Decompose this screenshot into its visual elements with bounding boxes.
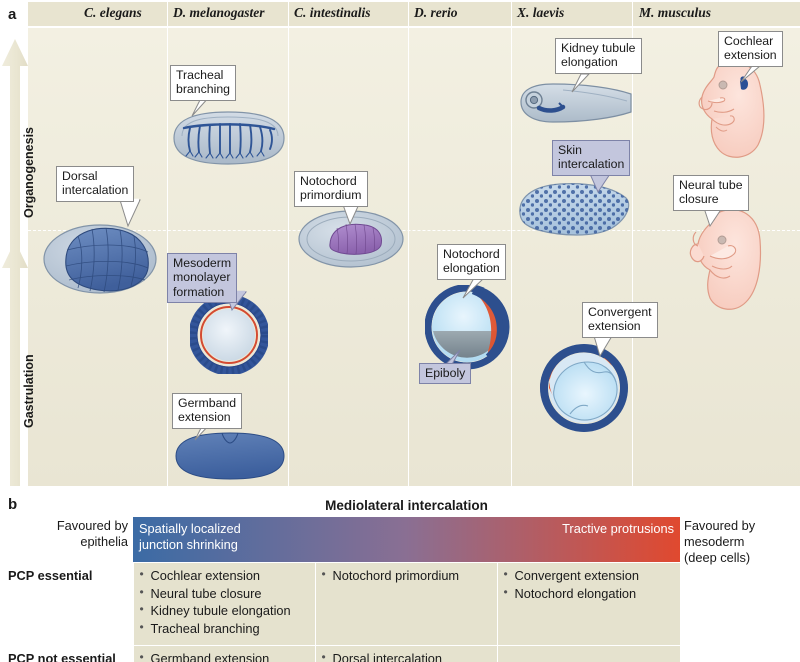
callout-line: Germband — [178, 396, 236, 410]
table-row: PCP essential Cochlear extension Neural … — [0, 563, 680, 645]
list-item: Notochord elongation — [504, 586, 675, 603]
callout-line: extension — [724, 48, 777, 62]
list-item: Convergent extension — [504, 568, 675, 585]
list-item: Tracheal branching — [140, 621, 309, 638]
callout-line: Neural tube — [679, 178, 743, 192]
callout-tail-cochlear-extension — [738, 64, 764, 84]
fav-meso-line-2: mesoderm — [684, 534, 744, 549]
callout-notochord-elongation[interactable]: Notochord elongation — [437, 244, 506, 280]
list-item: Dorsal intercalation — [322, 651, 491, 662]
cell-pcp-essential-mixed: Notochord primordium — [315, 563, 497, 645]
callout-line: elongation — [443, 261, 500, 275]
column-separator-4 — [511, 28, 512, 486]
cell-pcp-not-essential-mixed: Dorsal intercalation — [315, 645, 497, 662]
list: Notochord primordium — [322, 568, 491, 585]
callout-line: Dorsal — [62, 169, 98, 183]
callout-line: extension — [588, 319, 641, 333]
gradient-right-line-1: Tractive protrusions — [562, 521, 674, 536]
panel-b: b Mediolateral intercalation Favoured by… — [0, 492, 800, 662]
callout-line: branching — [176, 82, 230, 96]
species-label-x-laevis: X. laevis — [517, 5, 564, 21]
list: Germband extension — [140, 651, 309, 662]
species-label-d-melanogaster: D. melanogaster — [173, 5, 265, 21]
callout-skin-intercalation[interactable]: Skin intercalation — [552, 140, 630, 176]
pcp-table: PCP essential Cochlear extension Neural … — [0, 563, 680, 662]
callout-epiboly[interactable]: Epiboly — [419, 363, 471, 384]
row-header-pcp-not-essential: PCP not essential — [0, 645, 133, 662]
callout-germband-extension[interactable]: Germband extension — [172, 393, 242, 429]
gradient-left-line-1: Spatially localized — [139, 521, 241, 536]
art-drosophila-tracheal-embryo — [168, 106, 290, 170]
cell-pcp-essential-protrusion: Convergent extension Notochord elongatio… — [497, 563, 680, 645]
fav-epi-line-1: Favoured by — [57, 518, 128, 533]
callout-convergent-extension[interactable]: Convergent extension — [582, 302, 658, 338]
species-label-d-rerio: D. rerio — [414, 5, 458, 21]
callout-line: Mesoderm — [173, 256, 231, 270]
row-header-pcp-essential: PCP essential — [0, 563, 133, 645]
callout-line: monolayer — [173, 270, 230, 284]
callout-tail-dorsal-intercalation — [118, 198, 152, 228]
list: Dorsal intercalation — [322, 651, 491, 662]
mechanism-gradient-bar: Spatially localized junction shrinking T… — [133, 517, 680, 562]
cell-pcp-not-essential-junction: Germband extension — [133, 645, 315, 662]
list: Cochlear extension Neural tube closure K… — [140, 568, 309, 638]
callout-tail-notochord-elongation — [460, 276, 490, 300]
gradient-right-label: Tractive protrusions — [562, 521, 674, 537]
figure-root: a C. elegans D. melanogaster C. intestin… — [0, 0, 800, 662]
callout-tail-kidney-tubule-elongation — [569, 72, 597, 94]
cell-pcp-not-essential-protrusion — [497, 645, 680, 662]
panel-a-letter: a — [8, 6, 16, 23]
callout-notochord-primordium[interactable]: Notochord primordium — [294, 171, 368, 207]
callout-line: Skin — [558, 143, 582, 157]
callout-neural-tube-closure[interactable]: Neural tube closure — [673, 175, 749, 211]
callout-line: intercalation — [62, 183, 128, 197]
callout-kidney-tubule-elongation[interactable]: Kidney tubule elongation — [555, 38, 642, 74]
list-item: Germband extension — [140, 651, 309, 662]
mediolateral-intercalation-title: Mediolateral intercalation — [133, 498, 680, 513]
species-label-c-elegans: C. elegans — [84, 5, 142, 21]
callout-line: primordium — [300, 188, 362, 202]
fav-meso-line-1: Favoured by — [684, 518, 755, 533]
callout-tracheal-branching[interactable]: Tracheal branching — [170, 65, 236, 101]
callout-line: closure — [679, 192, 719, 206]
developmental-stage-arrows: Organogenesis Gastrulation — [0, 28, 30, 486]
gradient-left-line-2: junction shrinking — [139, 537, 238, 552]
callout-line: Notochord — [300, 174, 357, 188]
species-label-c-intestinalis: C. intestinalis — [294, 5, 371, 21]
callout-line: formation — [173, 285, 224, 299]
column-separator-2 — [288, 28, 289, 486]
callout-tail-convergent-extension — [592, 334, 620, 358]
favoured-by-mesoderm-label: Favoured by mesoderm (deep cells) — [684, 518, 800, 566]
stage-label-gastrulation: Gastrulation — [22, 354, 36, 428]
favoured-by-epithelia-label: Favoured by epithelia — [22, 518, 128, 550]
cell-pcp-essential-junction: Cochlear extension Neural tube closure K… — [133, 563, 315, 645]
callout-line: Convergent — [588, 305, 652, 319]
pcp-requirement-table: PCP essential Cochlear extension Neural … — [0, 563, 680, 662]
callout-line: extension — [178, 410, 231, 424]
callout-line: Notochord — [443, 247, 500, 261]
callout-line: intercalation — [558, 157, 624, 171]
callout-line: elongation — [561, 55, 618, 69]
callout-line: Kidney tubule — [561, 41, 636, 55]
callout-line: Tracheal — [176, 68, 223, 82]
fav-epi-line-2: epithelia — [80, 534, 128, 549]
callout-mesoderm-monolayer-formation[interactable]: Mesoderm monolayer formation — [167, 253, 237, 303]
table-row: PCP not essential Germband extension Dor… — [0, 645, 680, 662]
art-drosophila-germband-embryo — [172, 430, 288, 482]
list-item: Notochord primordium — [322, 568, 491, 585]
callout-line: Epiboly — [425, 366, 465, 380]
panel-a: a C. elegans D. melanogaster C. intestin… — [0, 0, 800, 492]
callout-dorsal-intercalation[interactable]: Dorsal intercalation — [56, 166, 134, 202]
list-item: Cochlear extension — [140, 568, 309, 585]
callout-line: Cochlear — [724, 34, 773, 48]
list-item: Neural tube closure — [140, 586, 309, 603]
species-label-m-musculus: M. musculus — [639, 5, 711, 21]
column-separator-3 — [408, 28, 409, 486]
list: Convergent extension Notochord elongatio… — [504, 568, 675, 602]
stage-label-organogenesis: Organogenesis — [22, 127, 36, 218]
callout-cochlear-extension[interactable]: Cochlear extension — [718, 31, 783, 67]
list-item: Kidney tubule elongation — [140, 603, 309, 620]
gradient-left-label: Spatially localized junction shrinking — [139, 521, 241, 553]
fav-meso-line-3: (deep cells) — [684, 550, 750, 565]
panel-b-letter: b — [8, 496, 17, 513]
